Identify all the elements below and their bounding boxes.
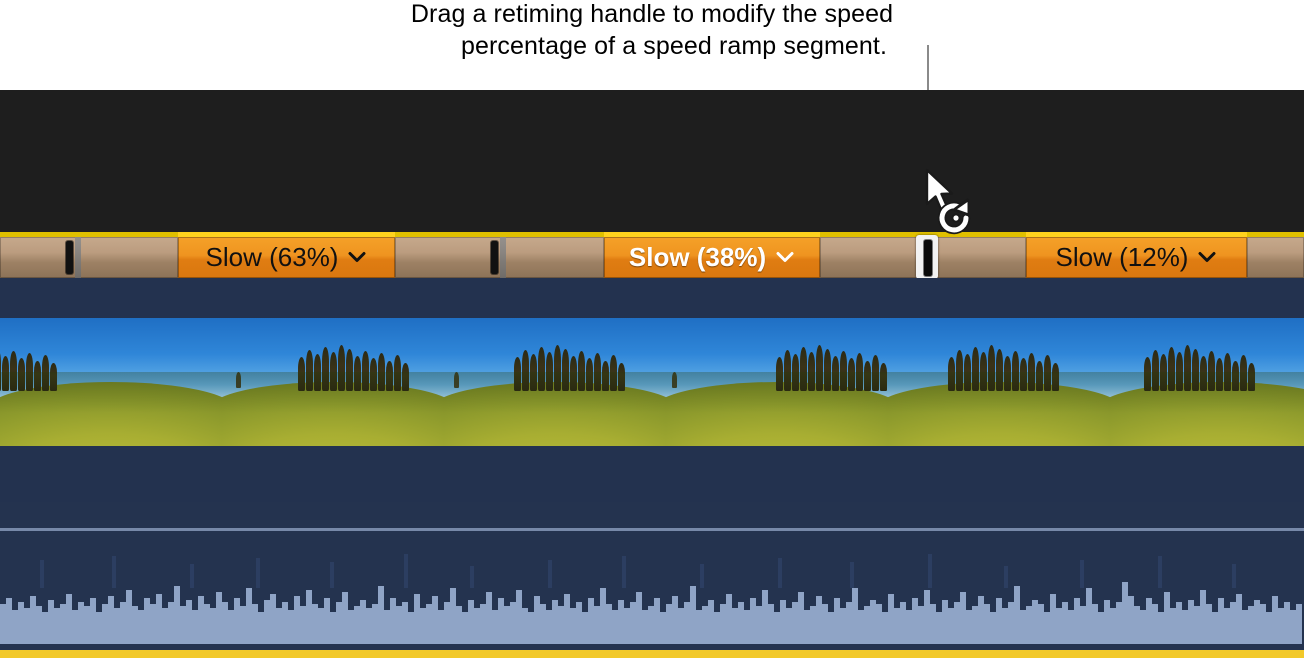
speed-label-slow-38: Slow (38%) (629, 244, 766, 270)
audio-waveform-band[interactable] (0, 502, 1304, 650)
clip-bottom-border (0, 650, 1304, 658)
filmstrip-thumbnail (222, 318, 444, 446)
filmstrip-thumbnail (444, 318, 666, 446)
thumbnail-shadow (0, 372, 222, 446)
handle-divider (500, 237, 506, 278)
retiming-handle-2[interactable] (489, 237, 506, 278)
handle-grip[interactable] (491, 241, 498, 274)
chevron-down-icon[interactable] (1197, 247, 1217, 267)
retiming-segment-slow-12[interactable]: Slow (12%) (1026, 232, 1247, 278)
callout-line-2: percentage of a speed ramp segment. (0, 30, 1304, 62)
callout-annotation-area: Drag a retiming handle to modify the spe… (0, 0, 1304, 90)
filmstrip-thumbnail (888, 318, 1110, 446)
video-band[interactable] (0, 278, 1304, 502)
handle-divider (75, 237, 81, 278)
handle-grip[interactable] (924, 240, 932, 276)
chevron-down-icon[interactable] (347, 247, 367, 267)
timeline-background: Slow (63%) Slow (38%) (0, 90, 1304, 466)
audio-separator-line (0, 528, 1304, 531)
speed-label-slow-63: Slow (63%) (206, 244, 339, 270)
retiming-handle-1[interactable] (64, 237, 81, 278)
thumbnail-shadow (222, 372, 444, 446)
chevron-down-icon[interactable] (775, 247, 795, 267)
retiming-segment-slow-63[interactable]: Slow (63%) (178, 232, 395, 278)
filmstrip-thumbnail (1110, 318, 1304, 446)
retiming-editor-bar[interactable]: Slow (63%) Slow (38%) (0, 232, 1304, 278)
filmstrip-thumbnail (666, 318, 888, 446)
filmstrip[interactable] (0, 318, 1304, 446)
retiming-handle-3[interactable] (919, 237, 936, 278)
filmstrip-thumbnail (0, 318, 222, 446)
audio-waveform (0, 552, 1304, 644)
speed-label-slow-12: Slow (12%) (1056, 244, 1189, 270)
thumbnail-shadow (1110, 372, 1304, 446)
retiming-segment-slow-38[interactable]: Slow (38%) (604, 232, 820, 278)
video-clip[interactable]: Slow (63%) Slow (38%) (0, 232, 1304, 508)
thumbnail-shadow (666, 372, 888, 446)
callout-line-1: Drag a retiming handle to modify the spe… (0, 0, 1304, 30)
handle-grip[interactable] (66, 241, 73, 274)
thumbnail-shadow (888, 372, 1110, 446)
retiming-segment-plain-4[interactable] (1247, 232, 1304, 278)
retiming-segment-plain-1[interactable] (0, 232, 178, 278)
callout-text: Drag a retiming handle to modify the spe… (0, 0, 1304, 62)
thumbnail-shadow (444, 372, 666, 446)
